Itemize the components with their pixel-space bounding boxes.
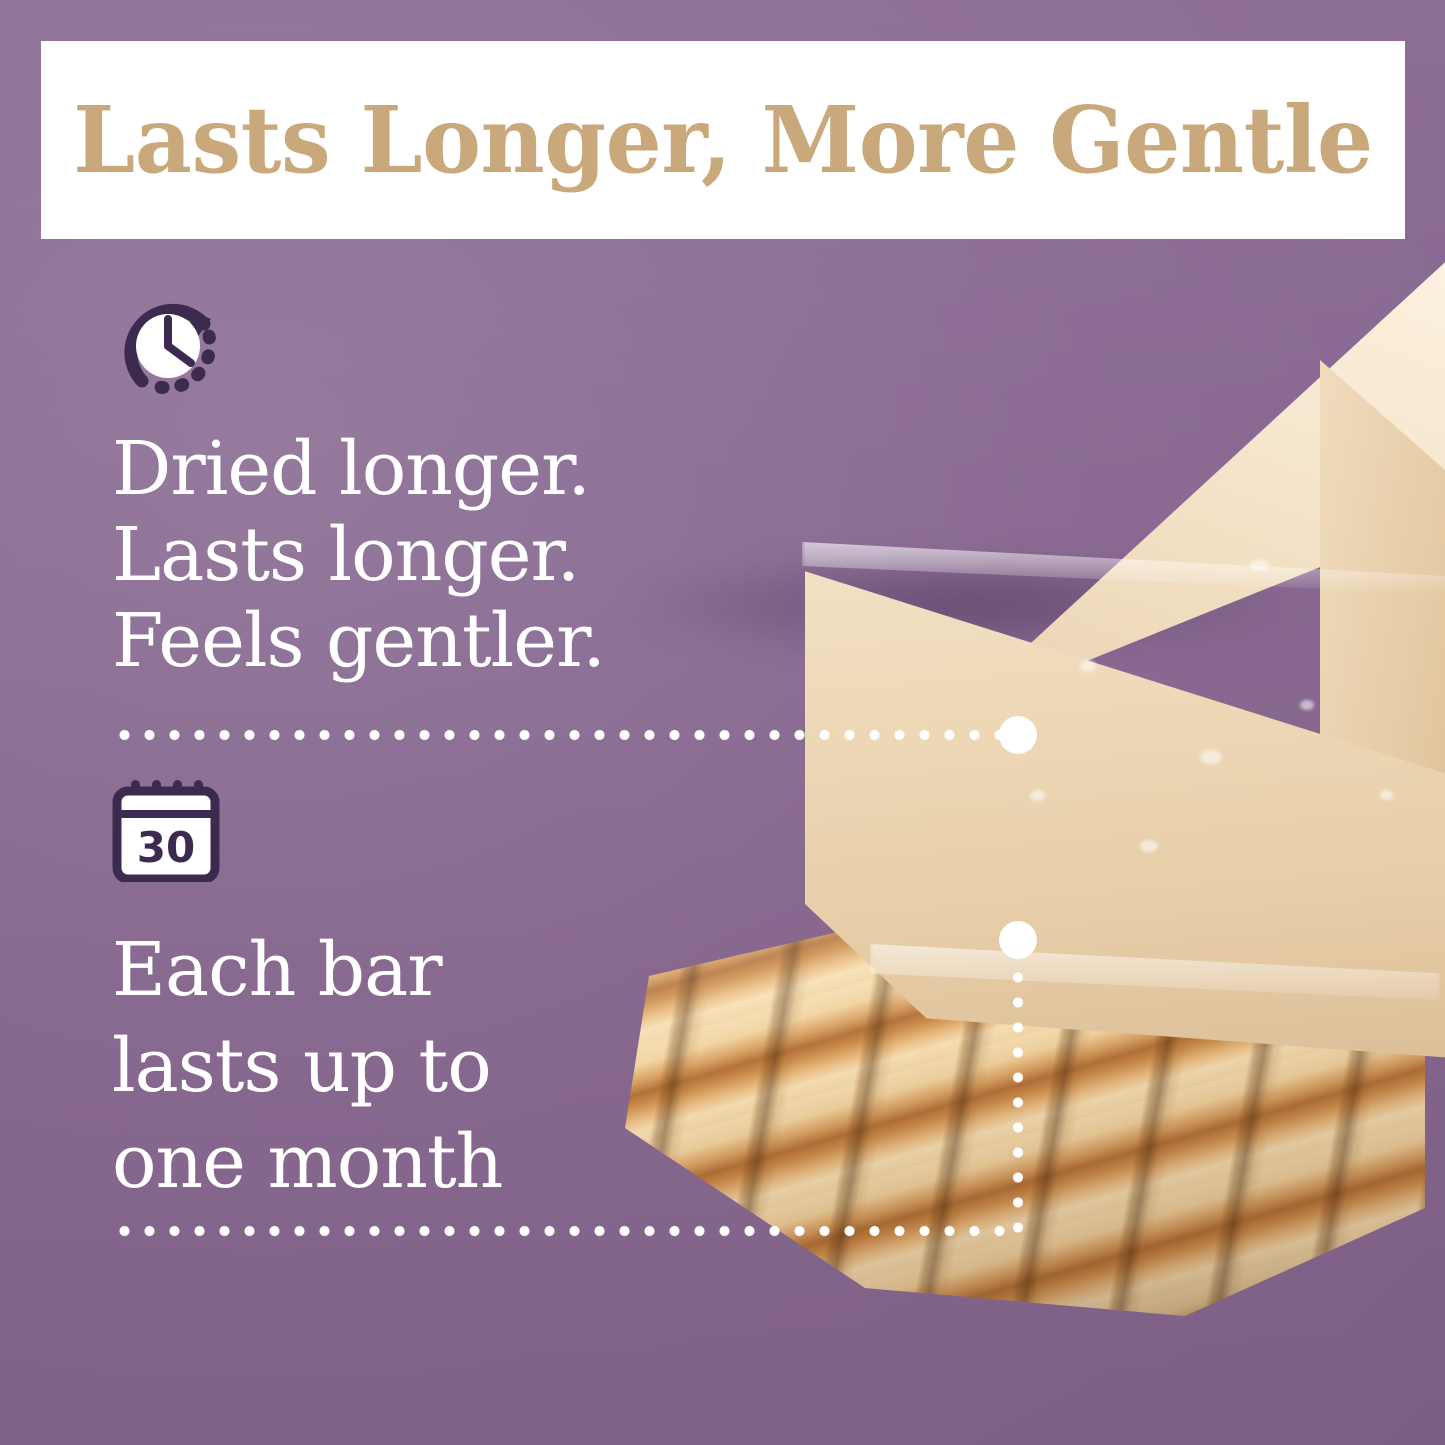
callout-leader-vertical xyxy=(1011,965,1025,1233)
feature-block-one-month: 30 Each bar lasts up to one month xyxy=(112,778,502,1210)
feature-text-dried-longer: Dried longer. Lasts longer. Feels gentle… xyxy=(112,426,605,684)
callout-dot-soap-bar xyxy=(999,716,1037,754)
feature-block-dried-longer: Dried longer. Lasts longer. Feels gentle… xyxy=(112,288,605,684)
clock-rotate-icon xyxy=(112,288,605,404)
callout-leader-horizontal-top xyxy=(112,728,1012,742)
calendar-day-number: 30 xyxy=(137,823,195,872)
header-banner: Lasts Longer, More Gentle xyxy=(41,41,1405,239)
soap-speck xyxy=(1080,660,1096,672)
soap-speck xyxy=(1300,700,1314,710)
soap-bar xyxy=(780,230,1445,1060)
calendar-30-icon: 30 xyxy=(112,778,502,886)
feature-text-one-month: Each bar lasts up to one month xyxy=(112,922,502,1210)
callout-leader-horizontal-bottom xyxy=(112,1224,1012,1238)
soap-speck xyxy=(1250,560,1270,571)
product-feature-card: Lasts Longer, More Gentle Dried longer. … xyxy=(0,0,1445,1445)
soap-speck xyxy=(1200,750,1222,764)
soap-speck xyxy=(1030,790,1045,801)
banner-title: Lasts Longer, More Gentle xyxy=(73,94,1373,186)
callout-dot-soap-dish xyxy=(999,921,1037,959)
soap-speck xyxy=(1140,840,1158,852)
soap-speck xyxy=(1380,790,1393,800)
